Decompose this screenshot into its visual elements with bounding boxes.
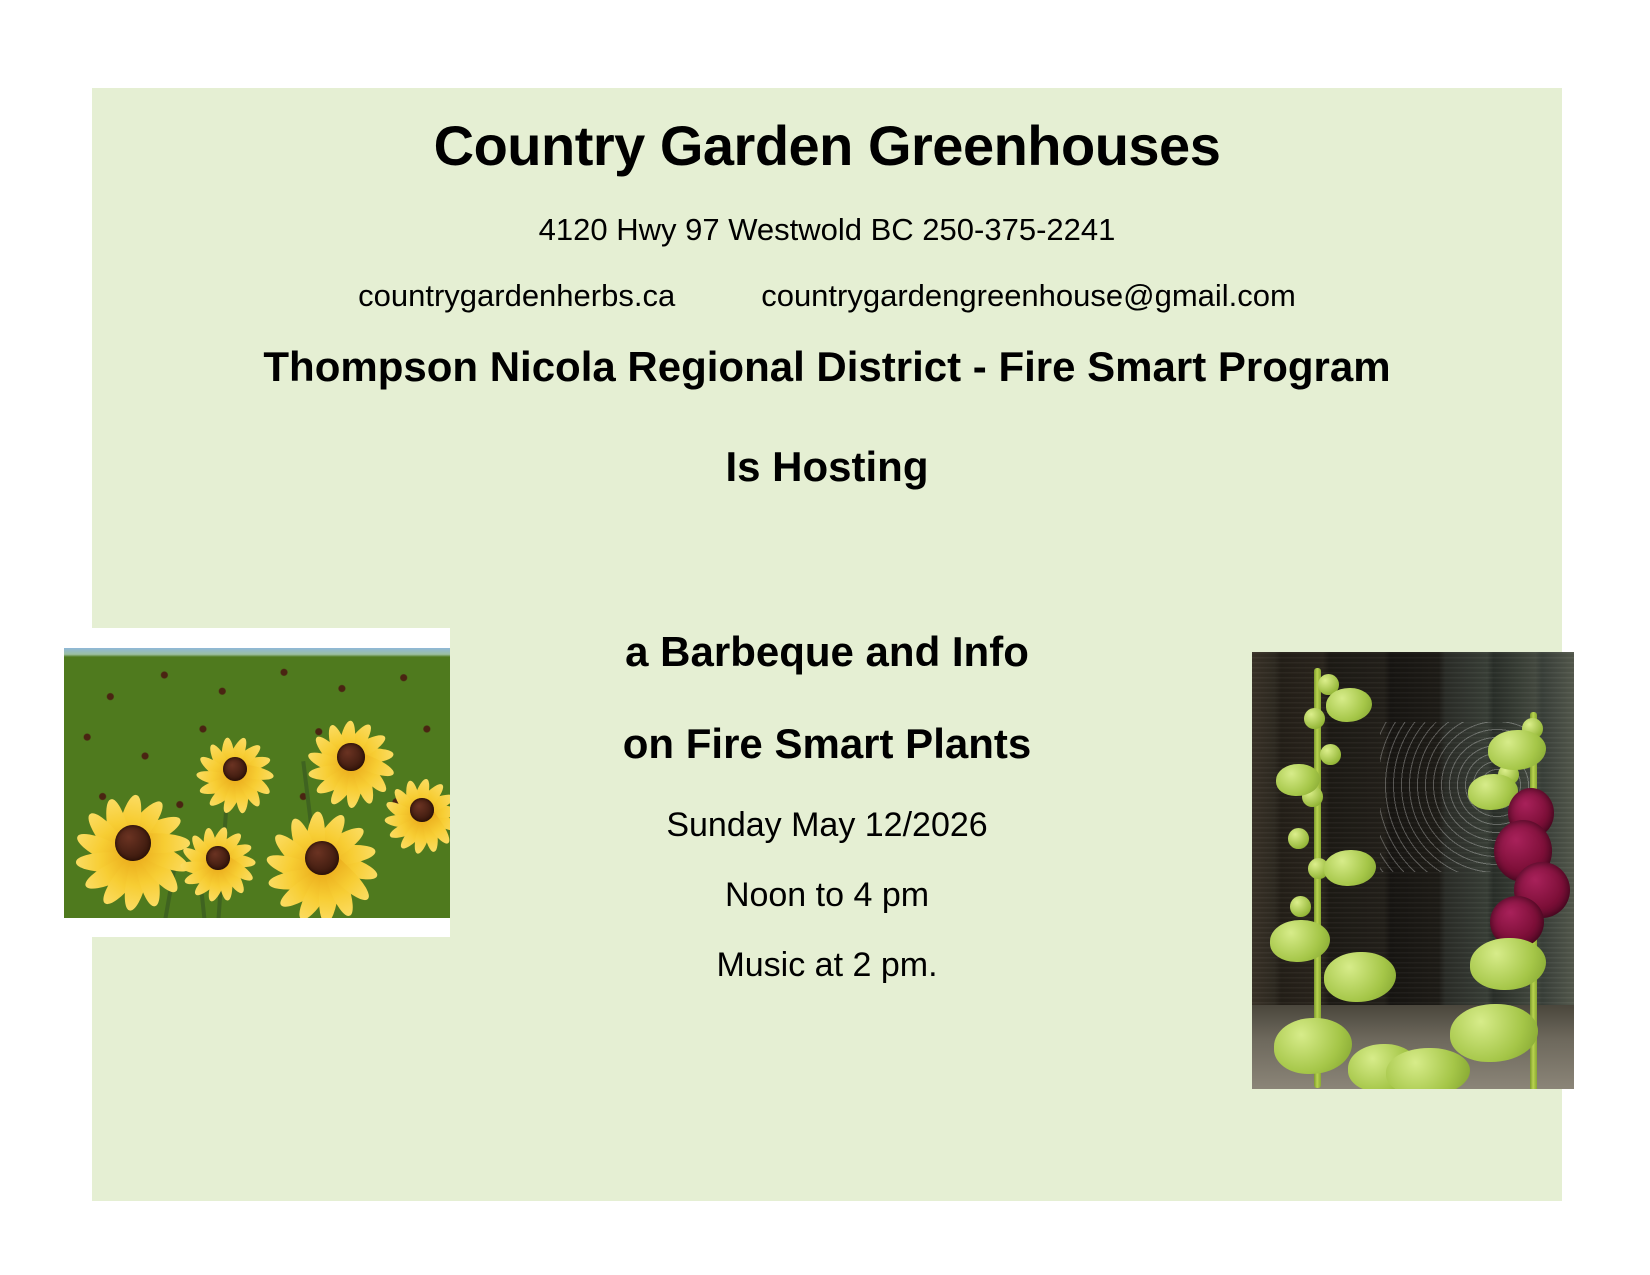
email-link[interactable]: countrygardengreenhouse@gmail.com [761,278,1296,313]
page-title: Country Garden Greenhouses [92,113,1562,178]
flower-disc [223,757,247,781]
flower-disc [410,798,434,822]
black-eyed-susan-field-photo [64,648,450,918]
black-eyed-susan-bloom [176,816,260,900]
hollyhock-bud [1288,828,1309,849]
flower-disc [337,743,364,770]
black-eyed-susan-photo-frame [44,628,450,937]
black-eyed-susan-bloom [260,796,384,918]
hollyhock-bud [1290,896,1311,917]
website-link[interactable]: countrygardenherbs.ca [358,278,675,313]
program-headline: Thompson Nicola Regional District - Fire… [92,343,1562,391]
black-eyed-susan-bloom [380,768,450,852]
hollyhock-bud [1320,744,1341,765]
hollyhock-leaf [1386,1048,1470,1089]
hollyhock-bud [1304,708,1325,729]
contact-line: countrygardenherbs.cacountrygardengreenh… [92,278,1562,314]
hosting-subheadline: Is Hosting [92,443,1562,491]
address-and-phone-line: 4120 Hwy 97 Westwold BC 250-375-2241 [92,212,1562,248]
flower-disc [206,846,230,870]
hollyhock-barn-photo [1252,652,1574,1089]
